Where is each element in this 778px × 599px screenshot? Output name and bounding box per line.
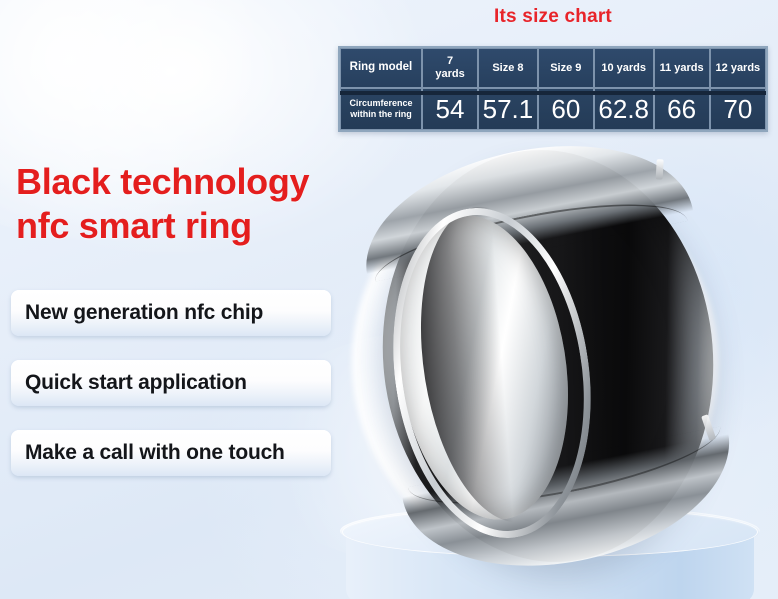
ring-edge-highlight-top (656, 159, 664, 179)
headline-line-1: Black technology (16, 161, 309, 202)
table-header-size-6: 12 yards (710, 48, 766, 88)
table-header-size-3: Size 9 (538, 48, 594, 88)
table-row-divider (340, 91, 766, 95)
headline-line-2: nfc smart ring (16, 204, 376, 248)
row-label-line-2: within the ring (350, 109, 412, 119)
table-header-size-2: Size 8 (478, 48, 538, 88)
feature-label: Make a call with one touch (11, 441, 285, 465)
feature-list: New generation nfc chip Quick start appl… (11, 290, 331, 476)
size-chart-table: Ring model 7 yards Size 8 Size 9 10 yard… (338, 46, 768, 132)
feature-item-one-touch-call[interactable]: Make a call with one touch (11, 430, 331, 476)
product-poster: Black technology nfc smart ring New gene… (0, 0, 778, 599)
row-label-line-1: Circumference (349, 98, 412, 108)
feature-label: Quick start application (11, 371, 247, 395)
table-row-header: Ring model 7 yards Size 8 Size 9 10 yard… (340, 48, 766, 88)
size-chart-title: Its size chart (338, 6, 768, 28)
feature-item-nfc-chip[interactable]: New generation nfc chip (11, 290, 331, 336)
table-header-ring-model: Ring model (340, 48, 422, 88)
feature-label: New generation nfc chip (11, 301, 263, 325)
page-title: Black technology nfc smart ring (16, 160, 376, 248)
header-line-2: yards (435, 68, 464, 80)
header-line-1: 7 (447, 55, 453, 67)
table-header-size-1: 7 yards (422, 48, 478, 88)
product-image-ring (383, 150, 743, 570)
table-header-size-5: 11 yards (654, 48, 710, 88)
table-header-size-4: 10 yards (594, 48, 654, 88)
ring-body (354, 121, 743, 591)
feature-item-quick-start[interactable]: Quick start application (11, 360, 331, 406)
